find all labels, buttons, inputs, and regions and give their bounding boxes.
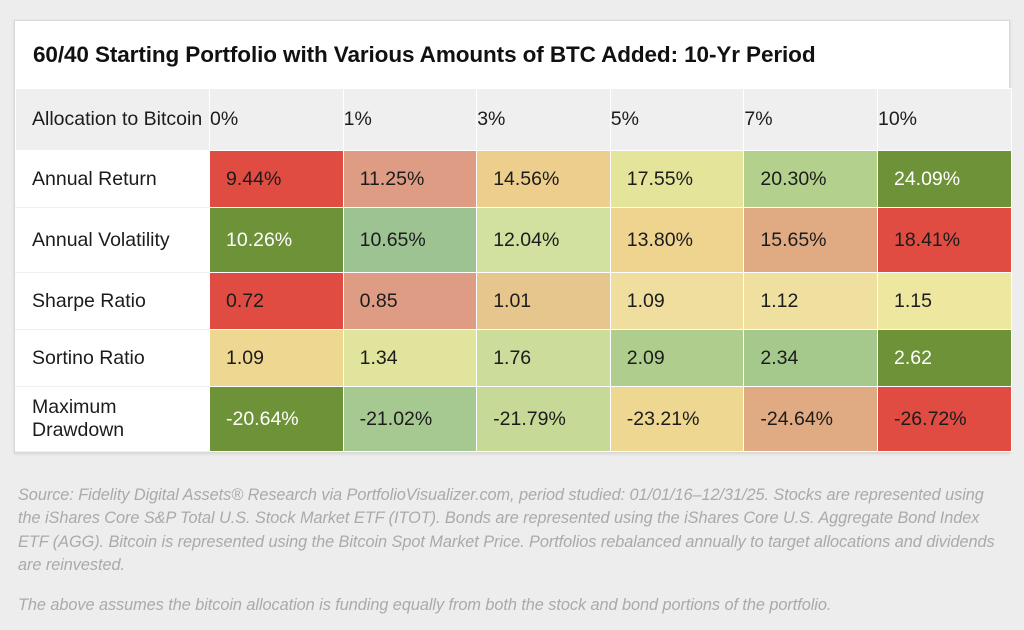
footnotes: Source: Fidelity Digital Assets® Researc… — [18, 484, 1008, 617]
row-label-4: Maximum Drawdown — [16, 387, 210, 452]
cell-r1-c1: 10.65% — [343, 208, 477, 273]
row-label-1: Annual Volatility — [16, 208, 210, 273]
column-header-allocation-1: 1% — [343, 89, 477, 151]
cell-r2-c2: 1.01 — [477, 273, 611, 330]
cell-r1-c0: 10.26% — [210, 208, 344, 273]
row-label-0: Annual Return — [16, 151, 210, 208]
cell-r0-c5: 24.09% — [877, 151, 1011, 208]
cell-r3-c1: 1.34 — [343, 330, 477, 387]
column-header-allocation-label: Allocation to Bitcoin — [16, 89, 210, 151]
cell-r0-c2: 14.56% — [477, 151, 611, 208]
column-header-allocation-5: 10% — [877, 89, 1011, 151]
table-row: Maximum Drawdown-20.64%-21.02%-21.79%-23… — [16, 387, 1012, 452]
cell-r3-c4: 2.34 — [744, 330, 878, 387]
page-root: 60/40 Starting Portfolio with Various Am… — [0, 0, 1024, 630]
cell-r1-c2: 12.04% — [477, 208, 611, 273]
cell-r0-c3: 17.55% — [610, 151, 744, 208]
row-label-3: Sortino Ratio — [16, 330, 210, 387]
cell-r0-c0: 9.44% — [210, 151, 344, 208]
cell-r3-c2: 1.76 — [477, 330, 611, 387]
table-row: Annual Return9.44%11.25%14.56%17.55%20.3… — [16, 151, 1012, 208]
cell-r0-c4: 20.30% — [744, 151, 878, 208]
cell-r2-c3: 1.09 — [610, 273, 744, 330]
table-row: Sortino Ratio1.091.341.762.092.342.62 — [16, 330, 1012, 387]
table-head: Allocation to Bitcoin 0%1%3%5%7%10% — [16, 89, 1012, 151]
column-header-allocation-2: 3% — [477, 89, 611, 151]
cell-r4-c5: -26.72% — [877, 387, 1011, 452]
source-note: Source: Fidelity Digital Assets® Researc… — [18, 484, 1008, 577]
cell-r1-c3: 13.80% — [610, 208, 744, 273]
cell-r2-c1: 0.85 — [343, 273, 477, 330]
cell-r4-c4: -24.64% — [744, 387, 878, 452]
cell-r1-c4: 15.65% — [744, 208, 878, 273]
cell-r2-c0: 0.72 — [210, 273, 344, 330]
cell-r4-c1: -21.02% — [343, 387, 477, 452]
table-row: Sharpe Ratio0.720.851.011.091.121.15 — [16, 273, 1012, 330]
assumption-note: The above assumes the bitcoin allocation… — [18, 594, 1008, 617]
column-header-allocation-3: 5% — [610, 89, 744, 151]
allocation-metrics-table: Allocation to Bitcoin 0%1%3%5%7%10% Annu… — [15, 88, 1012, 452]
cell-r0-c1: 11.25% — [343, 151, 477, 208]
cell-r3-c5: 2.62 — [877, 330, 1011, 387]
page-title: 60/40 Starting Portfolio with Various Am… — [15, 21, 1009, 88]
cell-r2-c5: 1.15 — [877, 273, 1011, 330]
table-card: 60/40 Starting Portfolio with Various Am… — [14, 20, 1010, 453]
table-header-row: Allocation to Bitcoin 0%1%3%5%7%10% — [16, 89, 1012, 151]
cell-r1-c5: 18.41% — [877, 208, 1011, 273]
cell-r3-c0: 1.09 — [210, 330, 344, 387]
column-header-allocation-4: 7% — [744, 89, 878, 151]
column-header-allocation-0: 0% — [210, 89, 344, 151]
table-body: Annual Return9.44%11.25%14.56%17.55%20.3… — [16, 151, 1012, 452]
cell-r4-c3: -23.21% — [610, 387, 744, 452]
cell-r4-c2: -21.79% — [477, 387, 611, 452]
cell-r2-c4: 1.12 — [744, 273, 878, 330]
table-row: Annual Volatility10.26%10.65%12.04%13.80… — [16, 208, 1012, 273]
cell-r4-c0: -20.64% — [210, 387, 344, 452]
row-label-2: Sharpe Ratio — [16, 273, 210, 330]
cell-r3-c3: 2.09 — [610, 330, 744, 387]
